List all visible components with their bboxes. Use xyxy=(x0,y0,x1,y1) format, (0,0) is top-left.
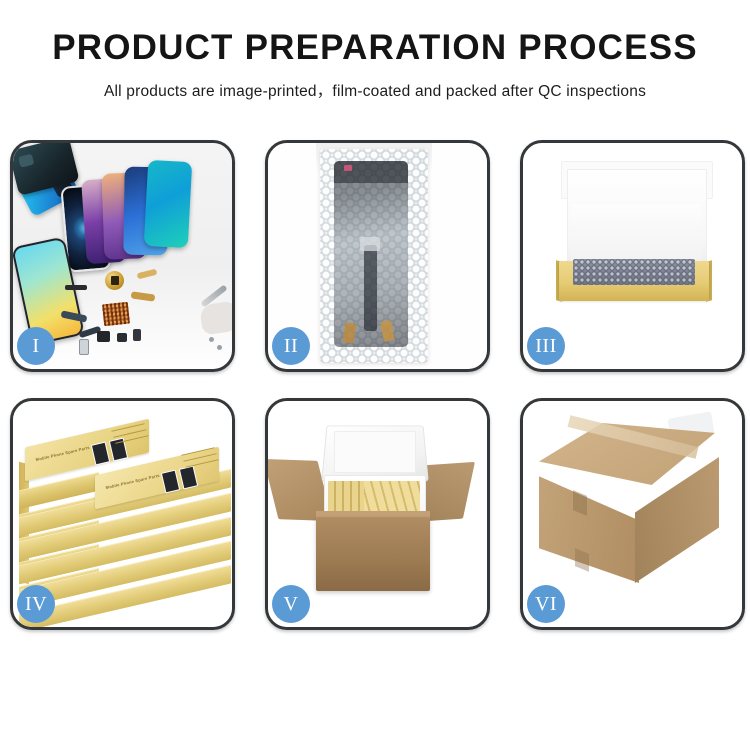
bubble-wrap-filler xyxy=(573,259,695,285)
box-stack: Mobile Phone Spare Parts Mobile Phone Sp… xyxy=(19,427,225,607)
page-subtitle: All products are image-printed，film-coat… xyxy=(0,79,750,101)
chip-part-2 xyxy=(133,329,141,341)
process-step-panel-2[interactable]: II xyxy=(265,140,490,372)
screw-part-2 xyxy=(217,345,222,350)
sim-tray-part xyxy=(79,339,89,355)
lcd-flex-cable xyxy=(364,245,377,331)
process-step-panel-4[interactable]: Mobile Phone Spare Parts Mobile Phone Sp… xyxy=(10,398,235,630)
chip-part-1 xyxy=(117,333,127,342)
flex-cable-part-3 xyxy=(131,291,156,301)
page-title: PRODUCT PREPARATION PROCESS xyxy=(0,30,750,67)
step-badge-3: III xyxy=(527,327,565,365)
carton-body xyxy=(316,517,430,591)
screw-part-1 xyxy=(209,337,214,342)
foam-lid-inner xyxy=(334,431,416,473)
foam-sheet xyxy=(571,205,701,263)
box-tray-front xyxy=(559,285,709,301)
step-badge-1: I xyxy=(17,327,55,365)
speaker-mesh-part xyxy=(65,285,87,290)
speaker-part xyxy=(97,331,110,342)
step-badge-2: II xyxy=(272,327,310,365)
process-step-panel-5[interactable]: V xyxy=(265,398,490,630)
bubble-wrap-bag xyxy=(320,149,428,363)
copper-grid-part xyxy=(102,302,130,327)
camera-lens-part xyxy=(105,271,124,290)
process-steps-grid: I II xyxy=(10,140,745,630)
process-step-panel-6[interactable]: VI xyxy=(520,398,745,630)
pink-label-sticker xyxy=(344,165,352,171)
step-badge-4: IV xyxy=(17,585,55,623)
flex-cable-part-4 xyxy=(137,269,158,280)
process-step-panel-1[interactable]: I xyxy=(10,140,235,372)
phone-screen-teal xyxy=(144,160,192,248)
carton-left-face xyxy=(539,467,639,583)
header: PRODUCT PREPARATION PROCESS All products… xyxy=(0,0,750,101)
process-step-panel-3[interactable]: III xyxy=(520,140,745,372)
step-badge-6: VI xyxy=(527,585,565,623)
step-badge-5: V xyxy=(272,585,310,623)
lcd-connector xyxy=(360,237,380,251)
infographic-page: PRODUCT PREPARATION PROCESS All products… xyxy=(0,0,750,750)
